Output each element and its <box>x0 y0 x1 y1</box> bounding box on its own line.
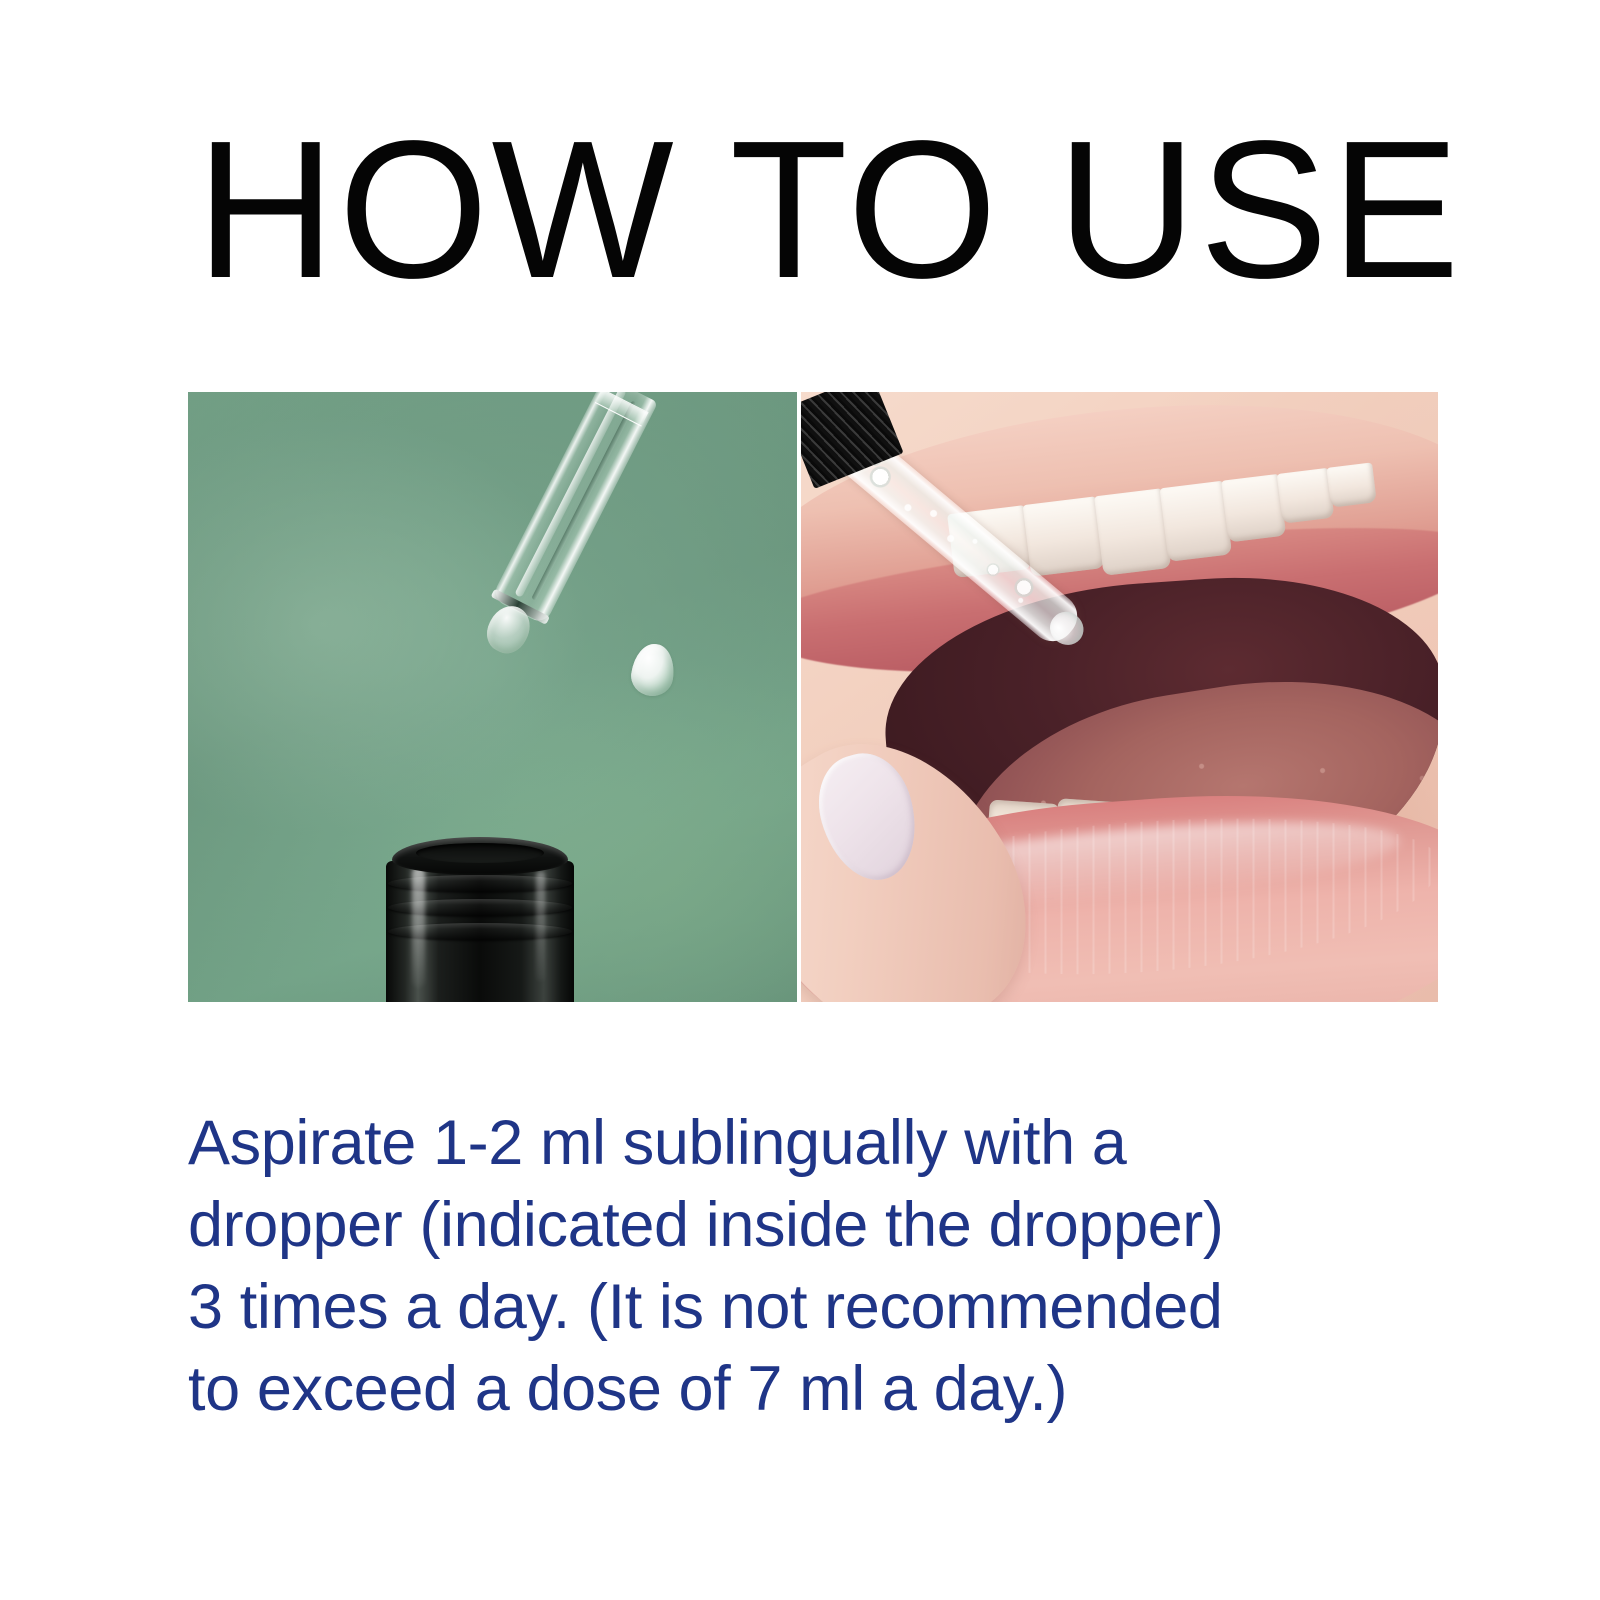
how-to-use-page: HOW TO USE <box>0 0 1600 1600</box>
instruction-line: dropper (indicated inside the dropper) <box>188 1184 1468 1266</box>
tooth <box>1160 481 1233 562</box>
instruction-line: 3 times a day. (It is not recommended <box>188 1266 1468 1348</box>
serum-bottle <box>386 837 574 1002</box>
tooth <box>1094 488 1171 576</box>
page-title: HOW TO USE <box>196 112 1463 308</box>
bottle-highlight <box>412 867 425 987</box>
tooth <box>1221 474 1286 543</box>
tooth <box>1023 496 1105 576</box>
bottle-highlight <box>536 871 545 981</box>
bottle-opening <box>416 843 544 863</box>
instruction-text: Aspirate 1-2 ml sublingually with a drop… <box>188 1102 1468 1430</box>
tooth <box>1277 468 1335 524</box>
sublingual-application-photo <box>801 392 1438 1002</box>
instruction-image-row <box>188 392 1438 1002</box>
tooth <box>1326 462 1377 507</box>
instruction-line: to exceed a dose of 7 ml a day.) <box>188 1348 1468 1430</box>
fingernail <box>806 743 930 891</box>
dropper-bottle-photo <box>188 392 797 1002</box>
instruction-line: Aspirate 1-2 ml sublingually with a <box>188 1102 1468 1184</box>
